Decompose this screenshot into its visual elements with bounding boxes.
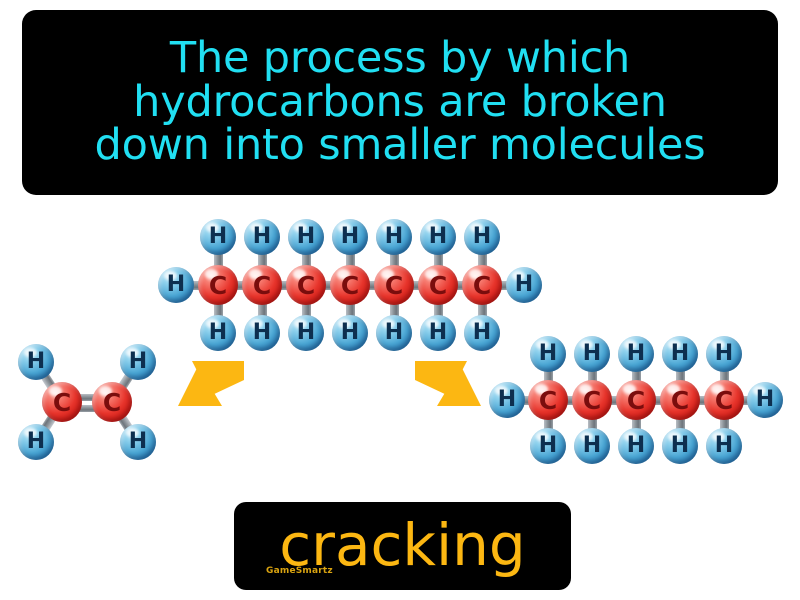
atom-hydrogen-label: H — [385, 226, 403, 248]
atom-carbon: C — [660, 380, 700, 420]
atom-carbon-label: C — [253, 273, 271, 298]
atom-hydrogen: H — [120, 424, 156, 460]
atom-hydrogen: H — [618, 428, 654, 464]
atom-hydrogen: H — [120, 344, 156, 380]
atom-hydrogen: H — [420, 219, 456, 255]
atom-hydrogen-label: H — [627, 343, 645, 365]
atom-hydrogen-label: H — [498, 389, 516, 411]
atom-carbon: C — [330, 265, 370, 305]
atom-hydrogen-label: H — [583, 343, 601, 365]
atom-hydrogen-label: H — [429, 226, 447, 248]
atom-hydrogen-label: H — [539, 343, 557, 365]
atom-hydrogen: H — [288, 219, 324, 255]
atom-hydrogen-label: H — [129, 431, 147, 453]
atom-hydrogen: H — [244, 315, 280, 351]
atom-carbon-label: C — [341, 273, 359, 298]
atom-hydrogen: H — [288, 315, 324, 351]
atom-hydrogen: H — [747, 382, 783, 418]
atom-hydrogen-label: H — [167, 274, 185, 296]
atom-hydrogen: H — [244, 219, 280, 255]
atom-hydrogen-label: H — [209, 226, 227, 248]
atom-hydrogen: H — [489, 382, 525, 418]
atom-hydrogen-label: H — [583, 435, 601, 457]
atom-hydrogen-label: H — [671, 343, 689, 365]
atom-hydrogen-label: H — [129, 351, 147, 373]
atom-hydrogen-label: H — [715, 435, 733, 457]
term-banner: cracking GameSmartz — [234, 502, 571, 590]
atom-hydrogen: H — [662, 428, 698, 464]
atom-hydrogen-label: H — [253, 322, 271, 344]
atom-hydrogen-label: H — [341, 322, 359, 344]
atom-hydrogen: H — [706, 428, 742, 464]
atom-hydrogen-label: H — [297, 322, 315, 344]
atom-hydrogen: H — [376, 315, 412, 351]
molecule-ethene: HHHHCC — [10, 340, 170, 460]
atom-carbon: C — [462, 265, 502, 305]
atom-hydrogen: H — [464, 315, 500, 351]
molecule-diagram: HHHHCHHCHHCHHCHHCHHCHHC HHHHCC HHHHCHHCH… — [0, 200, 800, 500]
atom-carbon-label: C — [671, 388, 689, 413]
atom-carbon-label: C — [209, 273, 227, 298]
atom-hydrogen: H — [332, 315, 368, 351]
arrow-left-icon — [176, 358, 246, 413]
atom-hydrogen-label: H — [27, 351, 45, 373]
atom-carbon-label: C — [297, 273, 315, 298]
atom-hydrogen-label: H — [253, 226, 271, 248]
atom-carbon-label: C — [385, 273, 403, 298]
atom-carbon: C — [198, 265, 238, 305]
atom-hydrogen: H — [158, 267, 194, 303]
atom-carbon-label: C — [539, 388, 557, 413]
watermark-label: GameSmartz — [266, 566, 333, 576]
atom-hydrogen: H — [574, 428, 610, 464]
atom-carbon-label: C — [583, 388, 601, 413]
atom-hydrogen: H — [200, 315, 236, 351]
atom-hydrogen-label: H — [429, 322, 447, 344]
atom-hydrogen: H — [706, 336, 742, 372]
atom-hydrogen: H — [506, 267, 542, 303]
atom-hydrogen-label: H — [27, 431, 45, 453]
atom-carbon: C — [616, 380, 656, 420]
atom-carbon-label: C — [627, 388, 645, 413]
atom-hydrogen-label: H — [473, 226, 491, 248]
atom-carbon-label: C — [473, 273, 491, 298]
atom-carbon-label: C — [429, 273, 447, 298]
atom-carbon: C — [572, 380, 612, 420]
atom-carbon: C — [286, 265, 326, 305]
atom-hydrogen-label: H — [627, 435, 645, 457]
definition-banner: The process by which hydrocarbons are br… — [22, 10, 778, 195]
molecule-pentane: HHHHCHHCHHCHHCHHC — [500, 340, 780, 460]
atom-hydrogen: H — [376, 219, 412, 255]
atom-hydrogen-label: H — [539, 435, 557, 457]
atom-carbon-label: C — [715, 388, 733, 413]
atom-carbon: C — [92, 382, 132, 422]
arrow-right-icon — [413, 358, 483, 413]
atom-hydrogen: H — [662, 336, 698, 372]
atom-hydrogen-label: H — [473, 322, 491, 344]
atom-carbon-label: C — [53, 390, 71, 415]
atom-hydrogen: H — [332, 219, 368, 255]
atom-hydrogen: H — [574, 336, 610, 372]
atom-hydrogen: H — [18, 424, 54, 460]
atom-hydrogen-label: H — [385, 322, 403, 344]
atom-hydrogen: H — [530, 336, 566, 372]
atom-hydrogen: H — [464, 219, 500, 255]
atom-hydrogen: H — [200, 219, 236, 255]
atom-hydrogen: H — [18, 344, 54, 380]
atom-hydrogen-label: H — [756, 389, 774, 411]
atom-carbon: C — [704, 380, 744, 420]
atom-carbon: C — [42, 382, 82, 422]
atom-hydrogen-label: H — [715, 343, 733, 365]
atom-carbon: C — [418, 265, 458, 305]
atom-carbon: C — [374, 265, 414, 305]
flashcard: The process by which hydrocarbons are br… — [0, 0, 800, 600]
atom-hydrogen-label: H — [341, 226, 359, 248]
atom-hydrogen-label: H — [671, 435, 689, 457]
molecule-heptane: HHHHCHHCHHCHHCHHCHHCHHC — [168, 200, 528, 350]
atom-carbon-label: C — [103, 390, 121, 415]
atom-hydrogen: H — [530, 428, 566, 464]
atom-hydrogen-label: H — [297, 226, 315, 248]
definition-text: The process by which hydrocarbons are br… — [95, 37, 706, 169]
atom-hydrogen: H — [618, 336, 654, 372]
atom-carbon: C — [528, 380, 568, 420]
atom-hydrogen-label: H — [515, 274, 533, 296]
atom-carbon: C — [242, 265, 282, 305]
atom-hydrogen: H — [420, 315, 456, 351]
atom-hydrogen-label: H — [209, 322, 227, 344]
